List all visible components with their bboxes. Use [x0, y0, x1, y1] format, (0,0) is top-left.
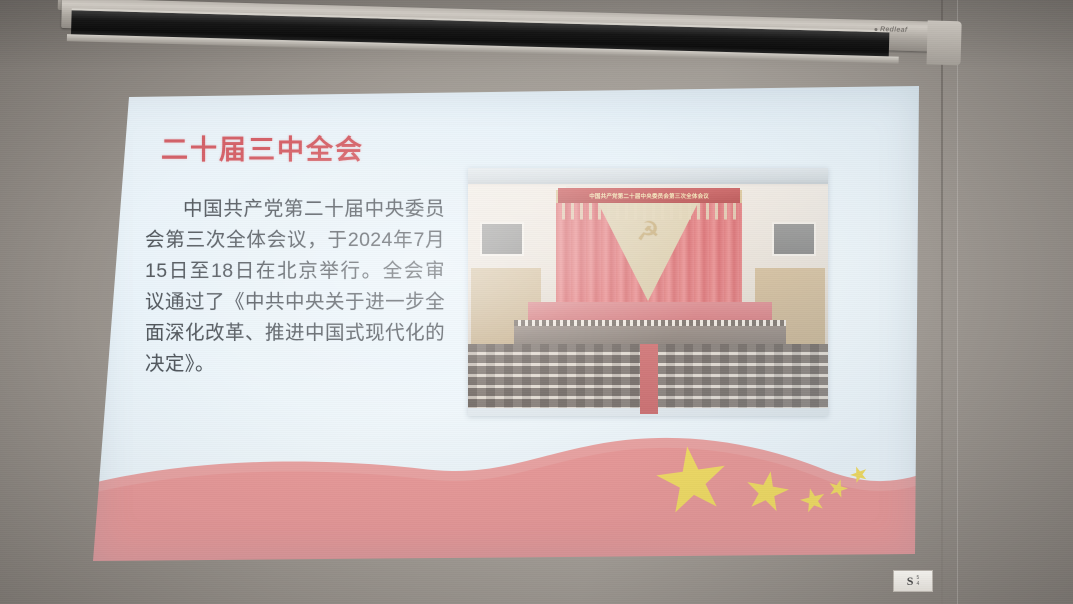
slide-body-text: 中国共产党第二十届中央委员会第三次全体会议，于2024年7月15日至18日在北京… [145, 194, 445, 380]
wall-seam-line [941, 0, 943, 604]
photo-left-window [480, 222, 524, 256]
conference-hall-photo: ☭ 中国共产党第二十届中央委员会第三次全体会议 [468, 168, 828, 416]
slide-wave-decoration [93, 411, 919, 561]
photo-banner: 中国共产党第二十届中央委员会第三次全体会议 [558, 188, 740, 203]
projected-slide[interactable]: 二十届三中全会 中国共产党第二十届中央委员会第三次全体会议，于2024年7月15… [93, 86, 919, 561]
screen-brand-label: Redleaf [874, 26, 908, 34]
photo-stage-base [514, 326, 786, 344]
wave-shape [93, 411, 919, 561]
wall-sticker-label: S 5 4 [893, 570, 933, 592]
screen-brand-text: Redleaf [880, 26, 908, 34]
sticker-small-text: 5 4 [916, 575, 919, 587]
photo-center-aisle [640, 344, 658, 414]
sticker-line-2: 4 [916, 581, 919, 587]
screen-endcap [927, 20, 962, 65]
photo-right-window [772, 222, 816, 256]
hammer-sickle-icon: ☭ [631, 216, 665, 246]
sticker-logo-mark: S [907, 574, 914, 589]
slide-title: 二十届三中全会 [161, 128, 364, 167]
wall-seam-highlight [957, 0, 958, 604]
photo-banner-text: 中国共产党第二十届中央委员会第三次全体会议 [589, 191, 709, 199]
